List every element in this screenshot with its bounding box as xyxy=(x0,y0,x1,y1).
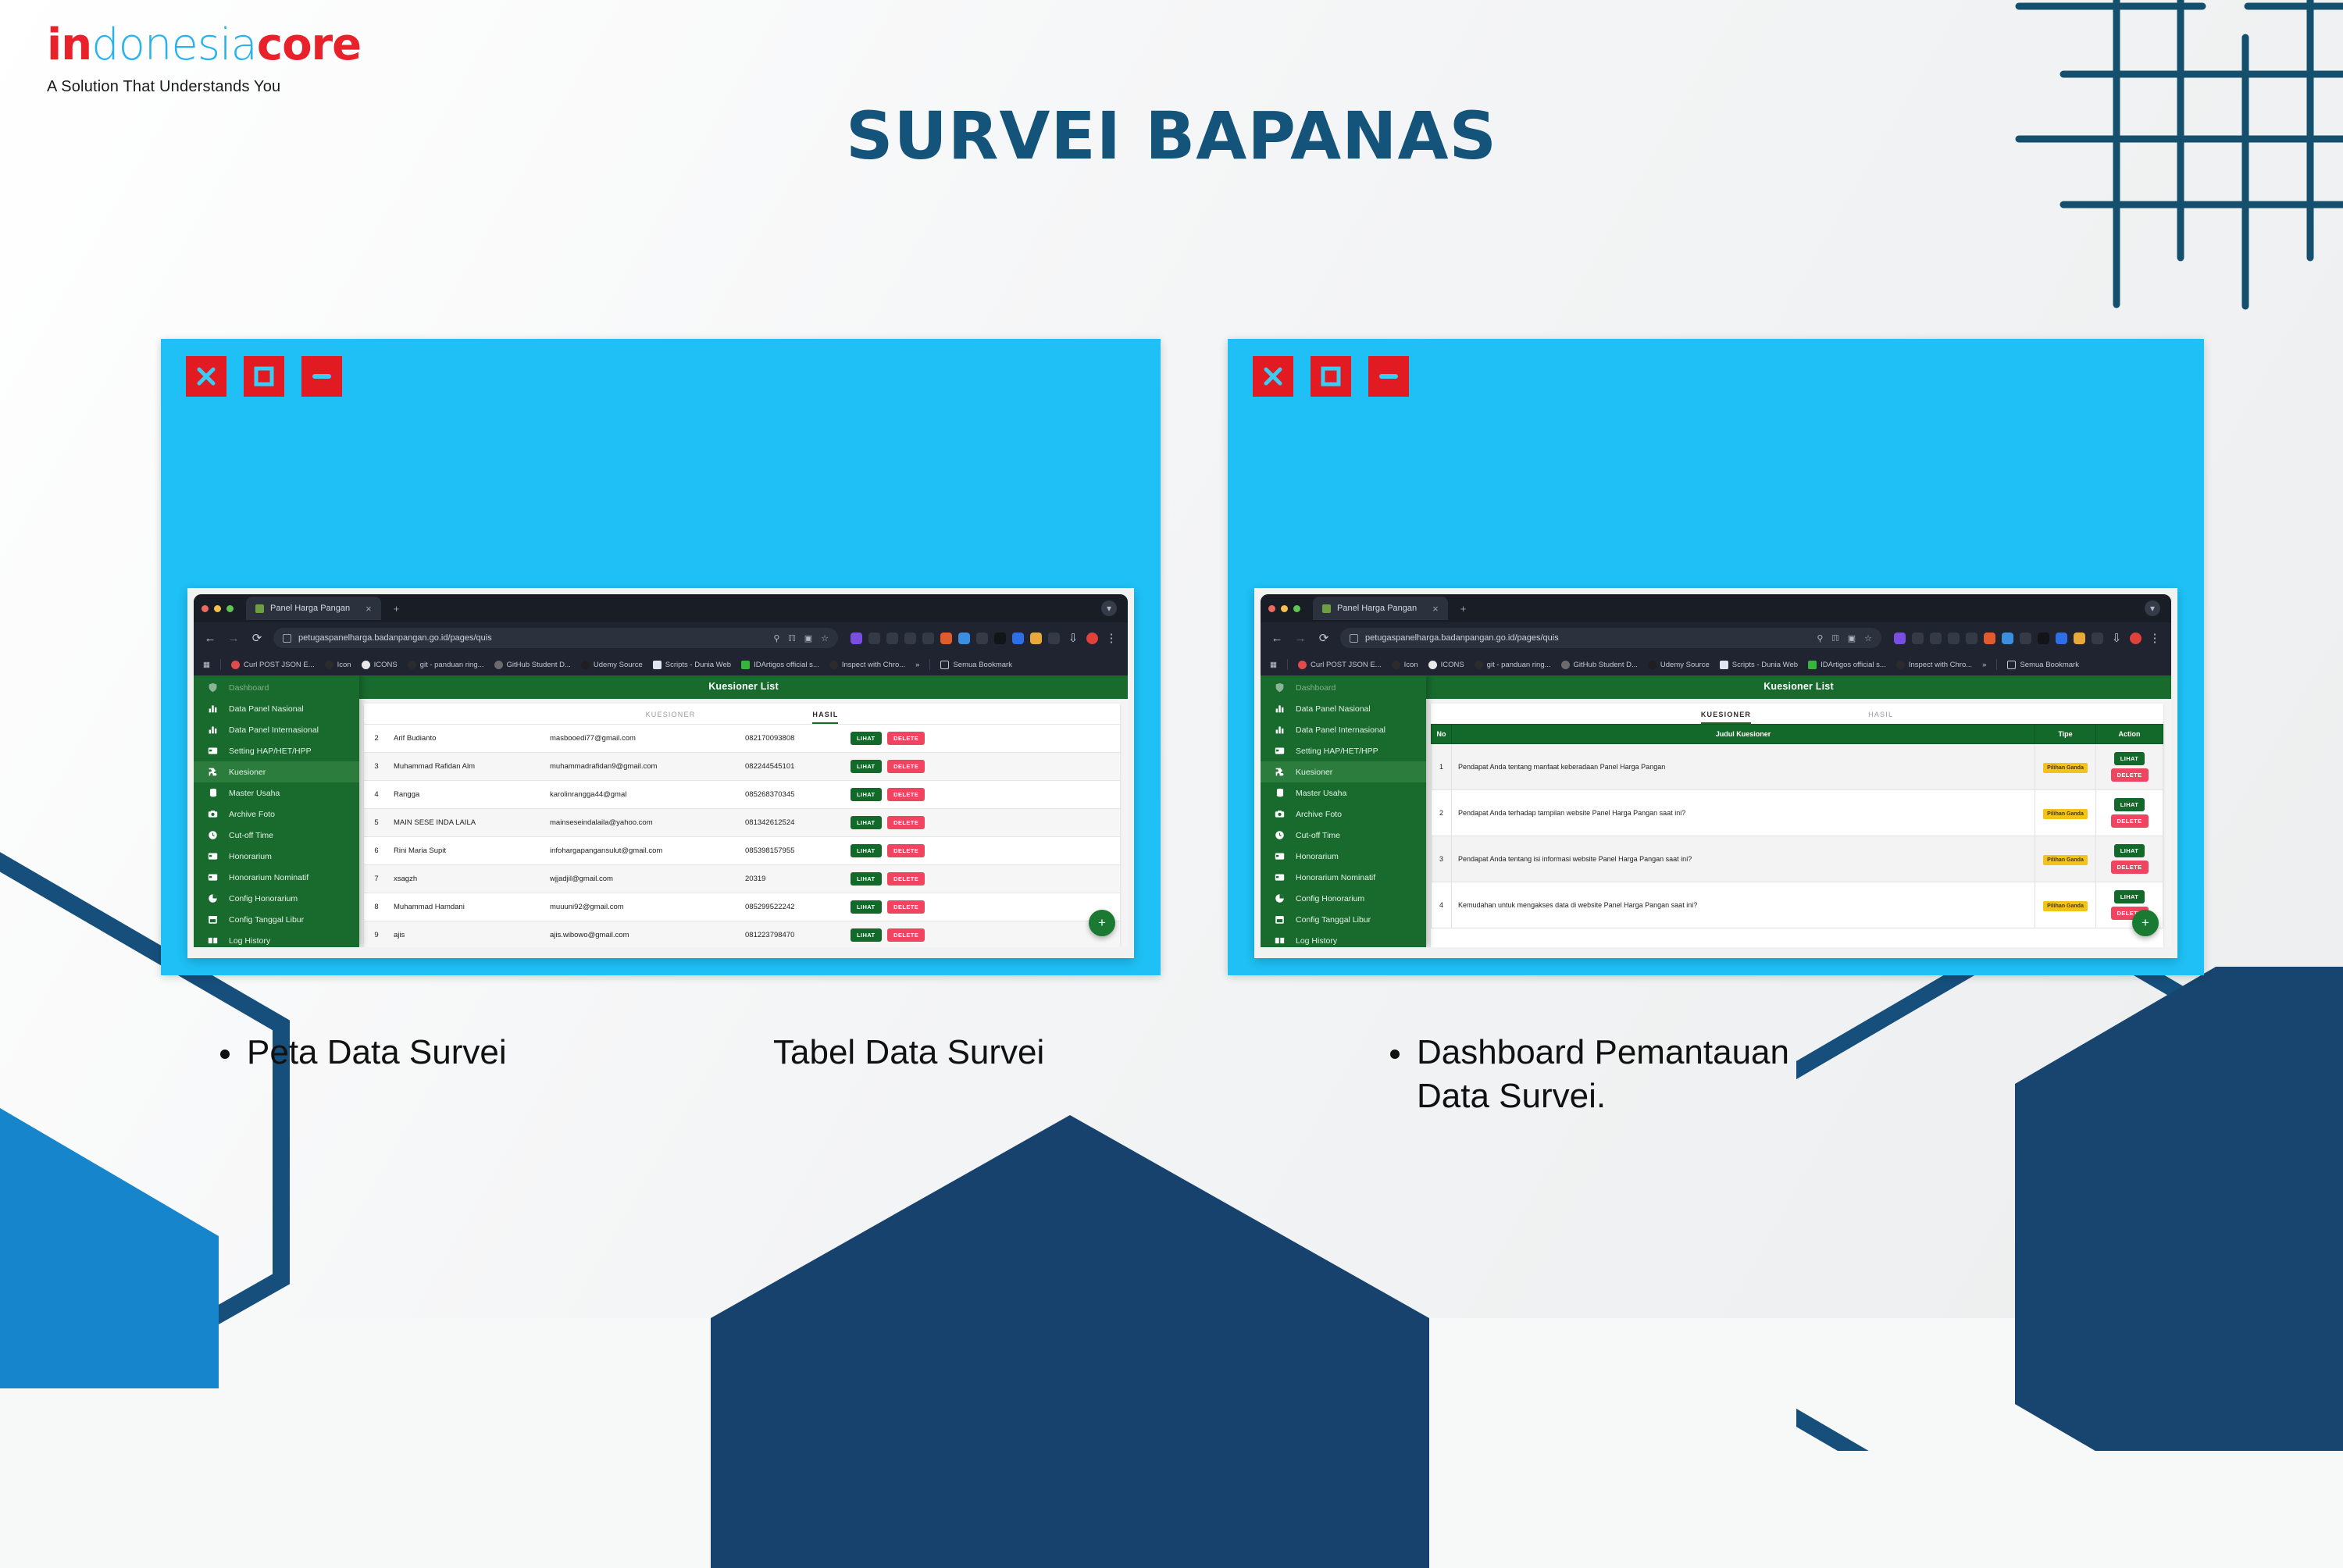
sidebar-item-label: Kuesioner xyxy=(229,768,266,777)
bookmark-item[interactable]: Inspect with Chro... xyxy=(829,661,905,669)
zoom-dot[interactable] xyxy=(1293,605,1300,612)
column-header: Action xyxy=(2096,725,2163,744)
bar-chart-icon xyxy=(1274,704,1286,714)
bullet-icon xyxy=(1390,1049,1400,1059)
bookmark-label: Scripts - Dunia Web xyxy=(665,661,731,669)
sidebar-item-label: Config Tanggal Libur xyxy=(1296,915,1371,925)
cell-actions: LIHAT DELETE xyxy=(846,809,1120,837)
divider xyxy=(929,659,930,670)
bookmark-item[interactable]: Icon xyxy=(1392,661,1418,669)
delete-button[interactable]: DELETE xyxy=(887,816,925,829)
bookmark-star-icon[interactable]: ☆ xyxy=(1864,633,1872,643)
extension-icon-3[interactable] xyxy=(1930,633,1942,644)
delete-button[interactable]: DELETE xyxy=(2111,814,2149,828)
content-card: KUESIONER HASIL NoJudul KuesionerTipeAct… xyxy=(1431,704,2163,947)
bar-chart-icon xyxy=(1274,725,1286,735)
clock-icon xyxy=(207,830,219,840)
pie-chart-icon xyxy=(1274,893,1286,903)
app-page-header: Kuesioner List xyxy=(1426,675,2171,699)
all-bookmarks-button[interactable]: Semua Bookmark xyxy=(940,661,1012,669)
view-button[interactable]: LIHAT xyxy=(851,788,882,801)
sidebar-item-setting-hap-het-hpp[interactable]: Setting HAP/HET/HPP xyxy=(1261,740,1426,761)
sidebar-item-label: Log History xyxy=(1296,936,1337,946)
cell-actions: LIHAT DELETE xyxy=(2096,744,2163,790)
bookmark-item[interactable]: Curl POST JSON E... xyxy=(1298,661,1382,669)
extension-icon-10[interactable] xyxy=(1012,633,1024,644)
browser-menu-icon[interactable]: ⋮ xyxy=(2148,631,2162,645)
cell-no: 4 xyxy=(364,781,389,809)
reload-icon[interactable]: ⟳ xyxy=(1317,631,1331,645)
bookmark-label: Curl POST JSON E... xyxy=(244,661,315,669)
close-dot[interactable] xyxy=(1268,605,1275,612)
sidebar-item-label: Data Panel Nasional xyxy=(229,704,304,714)
bar-chart-icon xyxy=(207,725,219,735)
tab-title: Panel Harga Pangan xyxy=(1337,604,1417,613)
cell-tipe: Pilihan Ganda xyxy=(2035,882,2096,928)
camera-icon xyxy=(207,809,219,819)
bookmark-item[interactable]: Curl POST JSON E... xyxy=(231,661,315,669)
page-title: SURVEI BAPANAS xyxy=(0,98,2343,174)
table-row[interactable]: 6 Rini Maria Supit infohargapangansulut@… xyxy=(364,837,1120,865)
cell-phone: 081223798470 xyxy=(740,921,846,948)
sidebar-item-label: Dashboard xyxy=(1296,683,1336,693)
cell-name: MAIN SESE INDA LAILA xyxy=(389,809,545,837)
card-icon xyxy=(207,851,219,861)
sidebar-item-config-tanggal-libur[interactable]: Config Tanggal Libur xyxy=(194,909,359,930)
bookmark-label: IDArtigos official s... xyxy=(1821,661,1886,669)
window-controls-right xyxy=(1228,339,2204,397)
delete-button[interactable]: DELETE xyxy=(2111,861,2149,874)
pie-chart-icon xyxy=(207,893,219,903)
all-bookmarks-label: Semua Bookmark xyxy=(953,661,1012,669)
all-bookmarks-label: Semua Bookmark xyxy=(2020,661,2079,669)
app-main-right: Kuesioner List KUESIONER HASIL NoJudul K… xyxy=(1426,675,2171,947)
address-bar[interactable]: petugaspanelharga.badanpangan.go.id/page… xyxy=(1340,628,1881,648)
new-tab-icon[interactable]: + xyxy=(394,603,400,615)
bookmark-item[interactable]: git - panduan ring... xyxy=(1475,661,1551,669)
profile-avatar[interactable] xyxy=(1086,633,1098,644)
zoom-dot[interactable] xyxy=(226,605,234,612)
cell-phone: 085398157955 xyxy=(740,837,846,865)
view-button[interactable]: LIHAT xyxy=(851,900,882,914)
cell-email: muhammadrafidan9@gmail.com xyxy=(545,753,740,781)
cell-judul: Pendapat Anda terhadap tampilan website … xyxy=(1452,790,2035,836)
sidebar-item-data-panel-internasional[interactable]: Data Panel Internasional xyxy=(194,719,359,740)
bookmark-label: ICONS xyxy=(374,661,398,669)
sidebar-item-master-usaha[interactable]: Master Usaha xyxy=(1261,782,1426,804)
view-button[interactable]: LIHAT xyxy=(851,760,882,773)
maximize-icon[interactable] xyxy=(244,356,284,397)
cell-no: 1 xyxy=(1432,744,1452,790)
bookmark-item[interactable]: GitHub Student D... xyxy=(494,661,571,669)
app-sidebar: Dashboard Data Panel Nasional xyxy=(1261,675,1426,947)
sidebar-item-label: Data Panel Internasional xyxy=(1296,725,1385,735)
tab-close-icon[interactable]: × xyxy=(366,603,372,615)
tab-close-icon[interactable]: × xyxy=(1432,603,1439,615)
table-row[interactable]: 4 Kemudahan untuk mengakses data di webs… xyxy=(1432,882,2163,928)
view-button[interactable]: LIHAT xyxy=(851,844,882,857)
sidebar-item-config-honorarium[interactable]: Config Honorarium xyxy=(194,888,359,909)
sidebar-item-data-panel-nasional[interactable]: Data Panel Nasional xyxy=(194,698,359,719)
app-page-header: Kuesioner List xyxy=(359,675,1128,699)
bookmark-label: Icon xyxy=(337,661,351,669)
app-sidebar: Dashboard Data Panel Nasional xyxy=(194,675,359,947)
calendar-icon xyxy=(207,914,219,925)
close-dot[interactable] xyxy=(201,605,209,612)
table-row[interactable]: 7 xsagzh wjjadjil@gmail.com 20319 LIHAT … xyxy=(364,865,1120,893)
sidebar-item-kuesioner[interactable]: Kuesioner xyxy=(1261,761,1426,782)
cell-name: Rangga xyxy=(389,781,545,809)
tab-title: Panel Harga Pangan xyxy=(270,604,350,613)
bookmarks-overflow-icon[interactable]: » xyxy=(915,661,919,669)
browser-tab-bar: Panel Harga Pangan × + ▾ xyxy=(1261,594,2171,622)
extension-icon-10[interactable] xyxy=(2056,633,2067,644)
browser-tab-bar: Panel Harga Pangan × + ▾ xyxy=(194,594,1128,622)
view-button[interactable]: LIHAT xyxy=(2114,798,2145,811)
sidebar-item-honorarium[interactable]: Honorarium xyxy=(1261,846,1426,867)
cell-no: 8 xyxy=(364,893,389,921)
puzzle-icon xyxy=(207,767,219,777)
cell-no: 5 xyxy=(364,809,389,837)
cell-tipe: Pilihan Ganda xyxy=(2035,744,2096,790)
add-button[interactable]: + xyxy=(1089,910,1115,936)
divider xyxy=(220,659,221,670)
table-row[interactable]: 5 MAIN SESE INDA LAILA mainseseindalaila… xyxy=(364,809,1120,837)
view-button[interactable]: LIHAT xyxy=(2114,752,2145,765)
extension-icon-4[interactable] xyxy=(1948,633,1960,644)
bookmark-item[interactable]: Scripts - Dunia Web xyxy=(653,661,731,669)
browser-tab[interactable]: Panel Harga Pangan × xyxy=(246,597,381,620)
table-row[interactable]: 2 Pendapat Anda terhadap tampilan websit… xyxy=(1432,790,2163,836)
puzzle-icon xyxy=(1274,767,1286,777)
omnibox-actions: ⚲ ℿ ▣ ☆ xyxy=(1817,633,1872,643)
cell-name: Muhammad Hamdani xyxy=(389,893,545,921)
delete-button[interactable]: DELETE xyxy=(2111,768,2149,782)
view-button[interactable]: LIHAT xyxy=(851,732,882,745)
browser-toolbar: ← → ⟳ petugaspanelharga.badanpangan.go.i… xyxy=(1261,622,2171,654)
browser-menu-icon[interactable]: ⋮ xyxy=(1104,631,1118,645)
site-info-icon[interactable] xyxy=(1350,634,1358,643)
tab-favicon-icon xyxy=(1322,604,1331,613)
extension-icon-11[interactable] xyxy=(2074,633,2085,644)
database-icon xyxy=(1274,788,1286,798)
sidebar-item-label: Honorarium Nominatif xyxy=(229,873,308,882)
minimize-dot[interactable] xyxy=(1281,605,1288,612)
view-button[interactable]: LIHAT xyxy=(851,928,882,942)
cell-email: karolinrangga44@gmal xyxy=(545,781,740,809)
cell-name: ajis xyxy=(389,921,545,948)
extension-icons: ⇩ ⋮ xyxy=(851,631,1118,645)
caption-tabel-data-survei: Tabel Data Survei xyxy=(773,1031,1044,1074)
address-bar-url: petugaspanelharga.badanpangan.go.id/page… xyxy=(1365,633,1559,643)
column-header: Judul Kuesioner xyxy=(1452,725,2035,744)
caption-peta-data-survei: Peta Data Survei xyxy=(220,1031,507,1074)
cell-name: Rini Maria Supit xyxy=(389,837,545,865)
minimize-dot[interactable] xyxy=(214,605,221,612)
apps-grid-icon[interactable]: ▦ xyxy=(1270,661,1277,669)
chevron-down-icon[interactable]: ▾ xyxy=(1101,600,1117,616)
bookmark-item[interactable]: ICONS xyxy=(362,661,398,669)
tab-favicon-icon xyxy=(255,604,264,613)
forward-icon[interactable]: → xyxy=(1293,632,1307,645)
cell-actions: LIHAT DELETE xyxy=(846,781,1120,809)
bullet-icon xyxy=(220,1049,230,1059)
cell-no: 6 xyxy=(364,837,389,865)
bookmarks-bar: ▦ Curl POST JSON E... Icon ICONS git - p… xyxy=(194,654,1128,675)
bookmark-item[interactable]: git - panduan ring... xyxy=(408,661,484,669)
sidebar-item-label: Log History xyxy=(229,936,270,946)
delete-button[interactable]: DELETE xyxy=(887,732,925,745)
logo-wordmark: indonesiacore xyxy=(47,23,361,67)
calendar-icon xyxy=(1274,914,1286,925)
address-bar-url: petugaspanelharga.badanpangan.go.id/page… xyxy=(298,633,492,643)
sidebar-item-log-history[interactable]: Log History xyxy=(194,930,359,947)
extension-icon-11[interactable] xyxy=(1030,633,1042,644)
view-button[interactable]: LIHAT xyxy=(851,872,882,886)
bookmark-label: GitHub Student D... xyxy=(1574,661,1638,669)
sidebar-item-kuesioner[interactable]: Kuesioner xyxy=(194,761,359,782)
cell-phone: 085299522242 xyxy=(740,893,846,921)
table-row[interactable]: 4 Rangga karolinrangga44@gmal 0852683703… xyxy=(364,781,1120,809)
close-icon[interactable] xyxy=(186,356,226,397)
cell-actions: LIHAT DELETE xyxy=(846,865,1120,893)
bookmark-item[interactable]: Udemy Source xyxy=(1648,661,1710,669)
delete-button[interactable]: DELETE xyxy=(887,928,925,942)
cell-name: Arif Budianto xyxy=(389,725,545,753)
extension-icon-4[interactable] xyxy=(904,633,916,644)
tab-kuesioner[interactable]: KUESIONER xyxy=(1701,711,1751,724)
questionnaire-table: NoJudul KuesionerTipeAction 1 Pendapat A… xyxy=(1431,724,2163,928)
column-header: Tipe xyxy=(2035,725,2096,744)
delete-button[interactable]: DELETE xyxy=(887,844,925,857)
cell-judul: Pendapat Anda tentang isi informasi webs… xyxy=(1452,836,2035,882)
delete-button[interactable]: DELETE xyxy=(887,900,925,914)
extension-icon-8[interactable] xyxy=(2020,633,2031,644)
extension-icon-6[interactable] xyxy=(940,633,952,644)
table-row[interactable]: 2 Arif Budianto masbooedi77@gmail.com 08… xyxy=(364,725,1120,753)
brand-tagline: A Solution That Understands You xyxy=(47,78,361,96)
app-viewport-right: Dashboard Data Panel Nasional xyxy=(1261,675,2171,947)
cast-icon[interactable]: ▣ xyxy=(804,633,812,643)
back-icon[interactable]: ← xyxy=(1270,632,1284,645)
bookmark-star-icon[interactable]: ☆ xyxy=(821,633,829,643)
sidebar-item-master-usaha[interactable]: Master Usaha xyxy=(194,782,359,804)
content-tabs: KUESIONER HASIL xyxy=(364,704,1120,724)
downloads-icon[interactable]: ⇩ xyxy=(2109,631,2124,645)
tab-kuesioner[interactable]: KUESIONER xyxy=(646,711,696,724)
sidebar-item-label: Data Panel Nasional xyxy=(1296,704,1371,714)
hexagon-decoration-bottom xyxy=(640,1084,1500,1568)
minimize-icon[interactable] xyxy=(301,356,342,397)
sidebar-item-config-honorarium[interactable]: Config Honorarium xyxy=(1261,888,1426,909)
cell-actions: LIHAT DELETE xyxy=(846,893,1120,921)
bookmark-label: Scripts - Dunia Web xyxy=(1732,661,1798,669)
close-icon[interactable] xyxy=(1253,356,1293,397)
reload-icon[interactable]: ⟳ xyxy=(250,631,264,645)
location-icon[interactable]: ⚲ xyxy=(1817,633,1823,643)
sidebar-item-setting-hap-het-hpp[interactable]: Setting HAP/HET/HPP xyxy=(194,740,359,761)
cell-phone: 085268370345 xyxy=(740,781,846,809)
sidebar-item-cut-off-time[interactable]: Cut-off Time xyxy=(1261,825,1426,846)
screenshot-frame-left: Panel Harga Pangan × + ▾ ← → ⟳ petugaspa… xyxy=(161,339,1161,975)
respondent-table: 2 Arif Budianto masbooedi77@gmail.com 08… xyxy=(364,724,1120,947)
tab-hasil[interactable]: HASIL xyxy=(1868,711,1893,724)
cell-tipe: Pilihan Ganda xyxy=(2035,836,2096,882)
extension-icon-3[interactable] xyxy=(886,633,898,644)
cell-email: wjjadjil@gmail.com xyxy=(545,865,740,893)
tab-hasil[interactable]: HASIL xyxy=(812,711,838,724)
extension-icon-7[interactable] xyxy=(2002,633,2013,644)
view-button[interactable]: LIHAT xyxy=(2114,890,2145,903)
bookmark-label: git - panduan ring... xyxy=(420,661,484,669)
browser-window-right: Panel Harga Pangan × + ▾ ← → ⟳ petugaspa… xyxy=(1254,588,2177,958)
database-icon xyxy=(207,788,219,798)
table-row[interactable]: 3 Muhammad Rafidan Alm muhammadrafidan9@… xyxy=(364,753,1120,781)
minimize-icon[interactable] xyxy=(1368,356,1409,397)
clock-icon xyxy=(1274,830,1286,840)
cell-judul: Kemudahan untuk mengakses data di websit… xyxy=(1452,882,2035,928)
divider xyxy=(1287,659,1288,670)
maximize-icon[interactable] xyxy=(1311,356,1351,397)
table-row[interactable]: 3 Pendapat Anda tentang isi informasi we… xyxy=(1432,836,2163,882)
extension-icon-2[interactable] xyxy=(1912,633,1924,644)
bookmark-item[interactable]: Icon xyxy=(325,661,351,669)
translate-icon[interactable]: ℿ xyxy=(1831,633,1838,643)
omnibox-actions: ⚲ ℿ ▣ ☆ xyxy=(773,633,829,643)
cell-actions: LIHAT DELETE xyxy=(2096,790,2163,836)
bookmark-item[interactable]: ICONS xyxy=(1428,661,1464,669)
cell-name: Muhammad Rafidan Alm xyxy=(389,753,545,781)
cell-no: 7 xyxy=(364,865,389,893)
downloads-icon[interactable]: ⇩ xyxy=(1066,631,1080,645)
traffic-lights xyxy=(1268,605,1300,612)
view-button[interactable]: LIHAT xyxy=(851,816,882,829)
apps-grid-icon[interactable]: ▦ xyxy=(203,661,210,669)
brand-logo: indonesiacore A Solution That Understand… xyxy=(47,23,361,96)
content-tabs: KUESIONER HASIL xyxy=(1431,704,2163,724)
cell-tipe: Pilihan Ganda xyxy=(2035,790,2096,836)
sidebar-item-label: Archive Foto xyxy=(1296,810,1342,819)
sidebar-item-honorarium-nominatif[interactable]: Honorarium Nominatif xyxy=(1261,867,1426,888)
cell-email: muuuni92@gmail.com xyxy=(545,893,740,921)
sidebar-item-honorarium[interactable]: Honorarium xyxy=(194,846,359,867)
cell-no: 2 xyxy=(1432,790,1452,836)
bookmark-item[interactable]: GitHub Student D... xyxy=(1561,661,1638,669)
camera-icon xyxy=(1274,809,1286,819)
cell-actions: LIHAT DELETE xyxy=(846,753,1120,781)
extension-icon-2[interactable] xyxy=(868,633,880,644)
location-icon[interactable]: ⚲ xyxy=(773,633,779,643)
bookmark-item[interactable]: IDArtigos official s... xyxy=(741,661,819,669)
extension-icon-7[interactable] xyxy=(958,633,970,644)
site-info-icon[interactable] xyxy=(283,634,291,643)
cell-no: 3 xyxy=(364,753,389,781)
table-row[interactable]: 8 Muhammad Hamdani muuuni92@gmail.com 08… xyxy=(364,893,1120,921)
status-badge: Pilihan Ganda xyxy=(2043,855,2088,865)
extension-icon-9[interactable] xyxy=(2038,633,2049,644)
sidebar-item-dashboard[interactable]: Dashboard xyxy=(1261,677,1426,698)
table-row[interactable]: 9 ajis ajis.wibowo@gmail.com 08122379847… xyxy=(364,921,1120,948)
bookmark-item[interactable]: Inspect with Chro... xyxy=(1896,661,1972,669)
sidebar-item-archive-foto[interactable]: Archive Foto xyxy=(1261,804,1426,825)
cell-actions: LIHAT DELETE xyxy=(846,837,1120,865)
sidebar-item-data-panel-internasional[interactable]: Data Panel Internasional xyxy=(1261,719,1426,740)
extension-icon-1[interactable] xyxy=(851,633,862,644)
table-row[interactable]: 1 Pendapat Anda tentang manfaat keberada… xyxy=(1432,744,2163,790)
app-main-left: Kuesioner List KUESIONER HASIL 2 Arif Bu… xyxy=(359,675,1128,947)
delete-button[interactable]: DELETE xyxy=(887,788,925,801)
cell-email: mainseseindalaila@yahoo.com xyxy=(545,809,740,837)
sidebar-item-honorarium-nominatif[interactable]: Honorarium Nominatif xyxy=(194,867,359,888)
sidebar-item-dashboard[interactable]: Dashboard xyxy=(194,677,359,698)
card-icon xyxy=(207,746,219,756)
profile-avatar[interactable] xyxy=(2130,633,2142,644)
all-bookmarks-button[interactable]: Semua Bookmark xyxy=(2007,661,2079,669)
browser-tab[interactable]: Panel Harga Pangan × xyxy=(1313,597,1448,620)
cast-icon[interactable]: ▣ xyxy=(1848,633,1856,643)
caption-text-line2: Data Survei. xyxy=(1417,1074,2093,1118)
extension-icons: ⇩ ⋮ xyxy=(1894,631,2162,645)
sidebar-item-config-tanggal-libur[interactable]: Config Tanggal Libur xyxy=(1261,909,1426,930)
cell-no: 4 xyxy=(1432,882,1452,928)
sidebar-item-data-panel-nasional[interactable]: Data Panel Nasional xyxy=(1261,698,1426,719)
sidebar-item-label: Master Usaha xyxy=(229,789,280,798)
screenshot-frame-right: Panel Harga Pangan × + ▾ ← → ⟳ petugaspa… xyxy=(1228,339,2204,975)
book-icon xyxy=(207,935,219,946)
add-button[interactable]: + xyxy=(2132,910,2159,936)
window-controls-left xyxy=(161,339,1161,397)
extension-icon-5[interactable] xyxy=(922,633,934,644)
extension-icon-8[interactable] xyxy=(976,633,988,644)
extension-icon-6[interactable] xyxy=(1984,633,1995,644)
bookmarks-overflow-icon[interactable]: » xyxy=(1982,661,1986,669)
extension-icon-12[interactable] xyxy=(2092,633,2103,644)
view-button[interactable]: LIHAT xyxy=(2114,844,2145,857)
chevron-down-icon[interactable]: ▾ xyxy=(2145,600,2160,616)
extension-icon-12[interactable] xyxy=(1048,633,1060,644)
cell-email: infohargapangansulut@gmail.com xyxy=(545,837,740,865)
extension-icon-9[interactable] xyxy=(994,633,1006,644)
bookmark-item[interactable]: Scripts - Dunia Web xyxy=(1720,661,1798,669)
address-bar[interactable]: petugaspanelharga.badanpangan.go.id/page… xyxy=(273,628,838,648)
delete-button[interactable]: DELETE xyxy=(887,760,925,773)
bookmark-item[interactable]: Udemy Source xyxy=(581,661,643,669)
sidebar-item-label: Config Honorarium xyxy=(1296,894,1364,903)
logo-part-core: core xyxy=(257,20,361,70)
sidebar-item-log-history[interactable]: Log History xyxy=(1261,930,1426,947)
new-tab-icon[interactable]: + xyxy=(1460,603,1467,615)
extension-icon-5[interactable] xyxy=(1966,633,1977,644)
extension-icon-1[interactable] xyxy=(1894,633,1906,644)
cell-no: 3 xyxy=(1432,836,1452,882)
bookmark-item[interactable]: IDArtigos official s... xyxy=(1808,661,1886,669)
sidebar-item-label: Dashboard xyxy=(229,683,269,693)
forward-icon[interactable]: → xyxy=(226,632,241,645)
sidebar-item-archive-foto[interactable]: Archive Foto xyxy=(194,804,359,825)
delete-button[interactable]: DELETE xyxy=(887,872,925,886)
sidebar-item-cut-off-time[interactable]: Cut-off Time xyxy=(194,825,359,846)
sidebar-item-label: Honorarium Nominatif xyxy=(1296,873,1375,882)
caption-text-line1: Dashboard Pemantauan xyxy=(1417,1033,1789,1071)
translate-icon[interactable]: ℿ xyxy=(788,633,795,643)
shield-icon xyxy=(1274,682,1286,693)
sidebar-item-label: Honorarium xyxy=(1296,852,1339,861)
sidebar-item-label: Kuesioner xyxy=(1296,768,1332,777)
back-icon[interactable]: ← xyxy=(203,632,217,645)
cell-no: 9 xyxy=(364,921,389,948)
sidebar-item-label: Honorarium xyxy=(229,852,272,861)
column-header: No xyxy=(1432,725,1452,744)
